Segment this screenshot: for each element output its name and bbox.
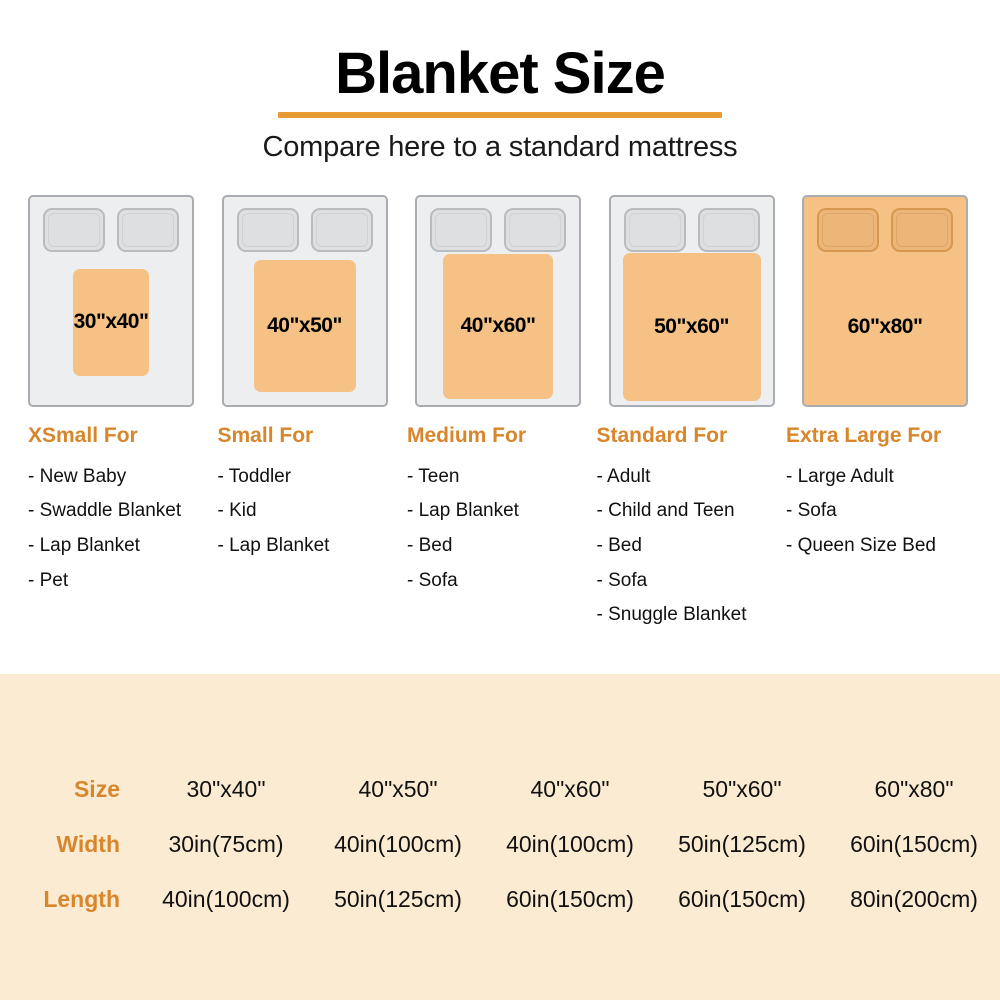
bed-diagram-extra-large: 60"x80" — [802, 195, 972, 407]
pillow-icon — [891, 208, 953, 252]
bed-mattress: 30"x40" — [28, 195, 194, 407]
description-item: - Bed — [407, 529, 593, 564]
pillow-icon — [43, 208, 105, 252]
description-item: - Lap Blanket — [218, 529, 404, 564]
description-item: - Sofa — [597, 564, 783, 599]
table-cell: 50"x60" — [656, 776, 828, 803]
title-underline — [278, 112, 722, 118]
pillow-icon — [624, 208, 686, 252]
blanket-size-label: 60"x80" — [848, 315, 923, 339]
description-column-small: Small For - Toddler - Kid - Lap Blanket — [218, 424, 404, 633]
description-item: - Large Adult — [786, 460, 972, 495]
description-title: Medium For — [407, 424, 593, 448]
page-header: Blanket Size Compare here to a standard … — [0, 0, 1000, 164]
pillow-group — [430, 208, 566, 252]
table-cell: 50in(125cm) — [312, 886, 484, 913]
description-item: - Pet — [28, 564, 214, 599]
description-item: - Bed — [597, 529, 783, 564]
bed-diagram-xsmall: 30"x40" — [28, 195, 198, 407]
table-cell: 40in(100cm) — [484, 831, 656, 858]
pillow-icon — [817, 208, 879, 252]
pillow-group — [237, 208, 373, 252]
bed-diagram-small: 40"x50" — [222, 195, 392, 407]
table-cell: 40in(100cm) — [312, 831, 484, 858]
blanket-shape: 40"x60" — [443, 254, 553, 399]
table-row-label: Width — [0, 831, 140, 858]
description-item: - Teen — [407, 460, 593, 495]
table-cell: 40"x50" — [312, 776, 484, 803]
description-item: - Toddler — [218, 460, 404, 495]
blanket-shape: 60"x80" — [810, 253, 960, 401]
description-column-medium: Medium For - Teen - Lap Blanket - Bed - … — [407, 424, 593, 633]
pillow-icon — [311, 208, 373, 252]
blanket-shape: 30"x40" — [73, 269, 149, 376]
pillow-icon — [237, 208, 299, 252]
description-item: - Adult — [597, 460, 783, 495]
bed-mattress: 60"x80" — [802, 195, 968, 407]
size-table-section: Size 30"x40" 40"x50" 40"x60" 50"x60" 60"… — [0, 674, 1000, 1000]
table-cell: 60in(150cm) — [484, 886, 656, 913]
pillow-icon — [430, 208, 492, 252]
table-cell: 30"x40" — [140, 776, 312, 803]
description-column-standard: Standard For - Adult - Child and Teen - … — [597, 424, 783, 633]
bed-mattress: 40"x60" — [415, 195, 581, 407]
blanket-size-label: 40"x60" — [461, 314, 536, 338]
description-item: - Child and Teen — [597, 494, 783, 529]
pillow-icon — [504, 208, 566, 252]
table-row: Length 40in(100cm) 50in(125cm) 60in(150c… — [0, 872, 1000, 927]
pillow-group — [43, 208, 179, 252]
description-item: - Queen Size Bed — [786, 529, 972, 564]
description-item: - Sofa — [786, 494, 972, 529]
description-item: - Lap Blanket — [28, 529, 214, 564]
description-item: - New Baby — [28, 460, 214, 495]
bed-diagrams-row: 30"x40" 40"x50" 40"x60" — [0, 195, 1000, 407]
page-subtitle: Compare here to a standard mattress — [0, 131, 1000, 164]
description-title: XSmall For — [28, 424, 214, 448]
pillow-group — [817, 208, 953, 252]
blanket-shape: 40"x50" — [254, 260, 356, 392]
table-cell: 80in(200cm) — [828, 886, 1000, 913]
description-column-xsmall: XSmall For - New Baby - Swaddle Blanket … — [28, 424, 214, 633]
table-cell: 40in(100cm) — [140, 886, 312, 913]
description-item: - Sofa — [407, 564, 593, 599]
description-item: - Snuggle Blanket — [597, 598, 783, 633]
bed-diagram-standard: 50"x60" — [609, 195, 779, 407]
description-title: Small For — [218, 424, 404, 448]
description-column-extra-large: Extra Large For - Large Adult - Sofa - Q… — [786, 424, 972, 633]
size-table: Size 30"x40" 40"x50" 40"x60" 50"x60" 60"… — [0, 674, 1000, 927]
table-row-label: Length — [0, 886, 140, 913]
blanket-size-label: 40"x50" — [267, 314, 342, 338]
table-row-label: Size — [0, 776, 140, 803]
page-title: Blanket Size — [0, 44, 1000, 105]
blanket-size-label: 50"x60" — [654, 315, 729, 339]
table-cell: 30in(75cm) — [140, 831, 312, 858]
table-cell: 40"x60" — [484, 776, 656, 803]
descriptions-row: XSmall For - New Baby - Swaddle Blanket … — [0, 424, 1000, 633]
table-row: Width 30in(75cm) 40in(100cm) 40in(100cm)… — [0, 817, 1000, 872]
table-cell: 60in(150cm) — [828, 831, 1000, 858]
bed-mattress: 50"x60" — [609, 195, 775, 407]
bed-diagram-medium: 40"x60" — [415, 195, 585, 407]
pillow-icon — [117, 208, 179, 252]
description-item: - Lap Blanket — [407, 494, 593, 529]
description-item: - Swaddle Blanket — [28, 494, 214, 529]
description-title: Extra Large For — [786, 424, 972, 448]
description-title: Standard For — [597, 424, 783, 448]
bed-mattress: 40"x50" — [222, 195, 388, 407]
pillow-group — [624, 208, 760, 252]
pillow-icon — [698, 208, 760, 252]
blanket-size-label: 30"x40" — [74, 310, 149, 334]
table-row: Size 30"x40" 40"x50" 40"x60" 50"x60" 60"… — [0, 762, 1000, 817]
blanket-shape: 50"x60" — [623, 253, 761, 401]
table-cell: 60in(150cm) — [656, 886, 828, 913]
table-cell: 60"x80" — [828, 776, 1000, 803]
table-cell: 50in(125cm) — [656, 831, 828, 858]
description-item: - Kid — [218, 494, 404, 529]
